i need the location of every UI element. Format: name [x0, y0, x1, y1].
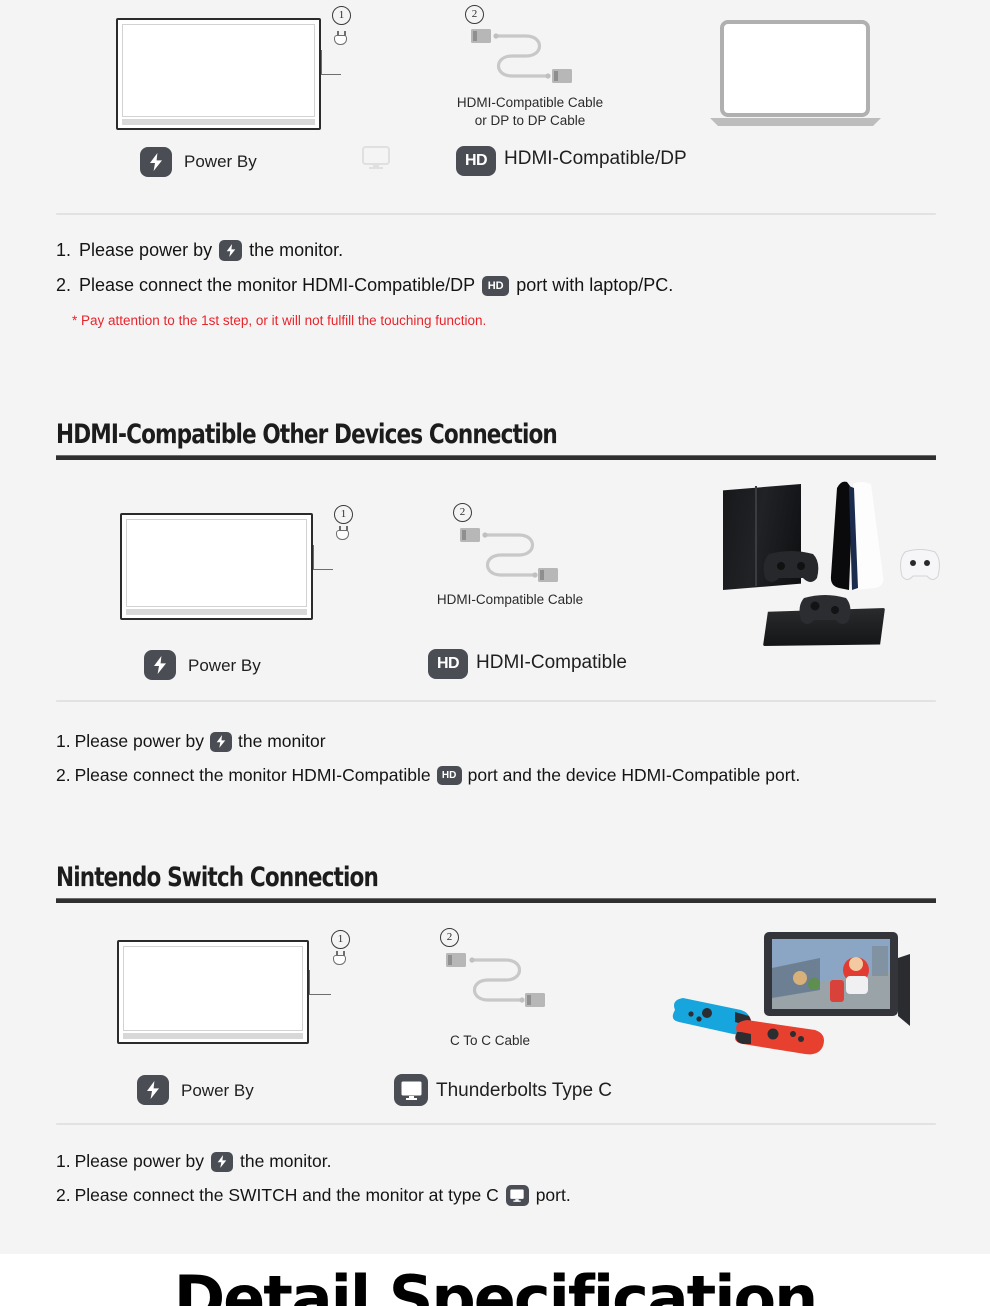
instruction-2-number: 2. — [56, 1185, 71, 1206]
monitor-illustration — [117, 940, 309, 1044]
ps5-controller — [897, 546, 943, 586]
instruction-1-text-before: Please power by — [75, 731, 204, 752]
hd-badge-text: HD — [437, 655, 459, 673]
power-cable-wire — [321, 50, 341, 75]
monitor-inner-bezel — [126, 519, 307, 607]
monitor-base — [122, 119, 315, 125]
instruction-2-text-before: Please connect the SWITCH and the monito… — [75, 1185, 499, 1206]
hd-badge: HD — [456, 146, 496, 176]
cable-connector-a — [471, 29, 491, 43]
cable-connector-a — [446, 953, 466, 967]
section-laptop-pc: 1 Power By 2 HDMI-Compatible Cable or DP… — [0, 0, 990, 215]
monitor-inner-bezel — [122, 24, 315, 117]
instruction-2-number: 2. — [56, 275, 71, 296]
monitor-icon-faint — [362, 146, 390, 170]
lightning-bolt-icon — [219, 240, 242, 261]
game-consoles-image — [715, 478, 940, 663]
section-heading-rule — [56, 455, 936, 460]
instruction-1-text-before: Please power by — [79, 240, 212, 261]
monitor-icon — [401, 1081, 422, 1100]
step-number-1: 1 — [334, 505, 353, 524]
power-cable-wire — [313, 545, 333, 570]
step-number-1: 1 — [331, 930, 350, 949]
step-number-2: 2 — [453, 503, 472, 522]
monitor-illustration — [120, 513, 313, 620]
cable-caption: HDMI-Compatible Cable — [400, 591, 620, 609]
instruction-1-number: 1. — [56, 240, 71, 261]
lightning-bolt-icon — [153, 656, 167, 674]
power-cable-wire — [309, 970, 331, 995]
power-by-badge — [140, 147, 172, 177]
hd-badge-label: HDMI-Compatible/DP — [504, 148, 687, 170]
product-instruction-page: 1 Power By 2 HDMI-Compatible Cable or DP… — [0, 0, 990, 1306]
step-number-1: 1 — [332, 6, 351, 25]
instruction-2: 2. Please connect the SWITCH and the mon… — [56, 1185, 571, 1206]
section-heading-hdmi: HDMI-Compatible Other Devices Connection — [56, 419, 557, 450]
hd-badge-label: HDMI-Compatible — [476, 652, 627, 674]
instruction-2-text-after: port with laptop/PC. — [516, 275, 673, 296]
power-plug-pin-right — [344, 31, 346, 36]
monitor-icon — [506, 1185, 529, 1206]
monitor-inner-bezel — [123, 946, 303, 1031]
section-heading-rule — [56, 898, 936, 903]
cable-caption: HDMI-Compatible Cable or DP to DP Cable — [420, 94, 640, 130]
instruction-2-text-after: port and the device HDMI-Compatible port… — [468, 765, 801, 786]
cable-connector-b — [552, 69, 572, 83]
monitor-illustration — [116, 18, 321, 130]
power-by-label: Power By — [184, 152, 257, 172]
joycon-right-red — [725, 1008, 835, 1062]
power-by-label: Power By — [188, 656, 261, 676]
step-number-2: 2 — [465, 5, 484, 24]
nintendo-switch-image — [665, 928, 935, 1058]
lightning-bolt-icon — [149, 153, 163, 171]
ps5-console — [827, 480, 893, 592]
instruction-1-number: 1. — [56, 1151, 71, 1172]
hd-badge: HD — [428, 649, 468, 679]
power-by-badge — [144, 650, 176, 680]
ps4-vent-line — [755, 486, 757, 586]
power-plug-pin-left — [337, 31, 339, 36]
power-plug-pin-left — [339, 526, 341, 531]
section-divider — [56, 700, 936, 702]
instruction-2-text-before: Please connect the monitor HDMI-Compatib… — [79, 275, 475, 296]
lightning-bolt-icon — [146, 1081, 160, 1099]
power-plug-pin-right — [343, 951, 345, 956]
section-heading-switch: Nintendo Switch Connection — [56, 862, 378, 893]
instruction-1-number: 1. — [56, 731, 71, 752]
bottom-section-title: Detail Specification — [0, 1262, 990, 1306]
power-plug-pin-left — [336, 951, 338, 956]
instruction-1: 1. Please power by the monitor. — [56, 240, 343, 261]
instruction-1-text-after: the monitor. — [240, 1151, 331, 1172]
cable-connector-a — [460, 528, 480, 542]
xbox-controller — [795, 590, 855, 630]
instruction-1: 1. Please power by the monitor. — [56, 1151, 331, 1172]
typec-monitor-badge — [394, 1074, 428, 1106]
laptop-illustration — [708, 14, 883, 132]
lightning-bolt-icon — [210, 732, 232, 752]
instruction-2: 2. Please connect the monitor HDMI-Compa… — [56, 275, 673, 296]
monitor-base — [123, 1033, 303, 1039]
cable-connector-b — [525, 993, 545, 1007]
cable-connector-b — [538, 568, 558, 582]
instruction-2-text-before: Please connect the monitor HDMI-Compatib… — [75, 765, 431, 786]
lightning-bolt-icon — [211, 1152, 233, 1172]
section-divider — [56, 213, 936, 215]
step-number-2: 2 — [440, 928, 459, 947]
monitor-base — [126, 609, 307, 615]
section-divider — [56, 1123, 936, 1125]
power-plug-icon — [334, 35, 347, 45]
instruction-2: 2. Please connect the monitor HDMI-Compa… — [56, 765, 800, 786]
hd-icon: HD — [437, 766, 462, 785]
warning-note: * Pay attention to the 1st step, or it w… — [72, 313, 486, 328]
instruction-2-text-after: port. — [536, 1185, 571, 1206]
hd-badge-text: HD — [465, 152, 487, 170]
ps4-controller — [759, 548, 823, 588]
instruction-2-number: 2. — [56, 765, 71, 786]
instruction-1-text-after: the monitor. — [249, 240, 343, 261]
hd-icon: HD — [482, 276, 509, 296]
cable-caption: C To C Cable — [390, 1032, 590, 1050]
instruction-1-text-after: the monitor — [238, 731, 326, 752]
power-by-label: Power By — [181, 1081, 254, 1101]
power-by-badge — [137, 1075, 169, 1105]
power-plug-pin-right — [346, 526, 348, 531]
instruction-1-text-before: Please power by — [75, 1151, 204, 1172]
typec-badge-label: Thunderbolts Type C — [436, 1080, 612, 1102]
instruction-1: 1. Please power by the monitor — [56, 731, 326, 752]
